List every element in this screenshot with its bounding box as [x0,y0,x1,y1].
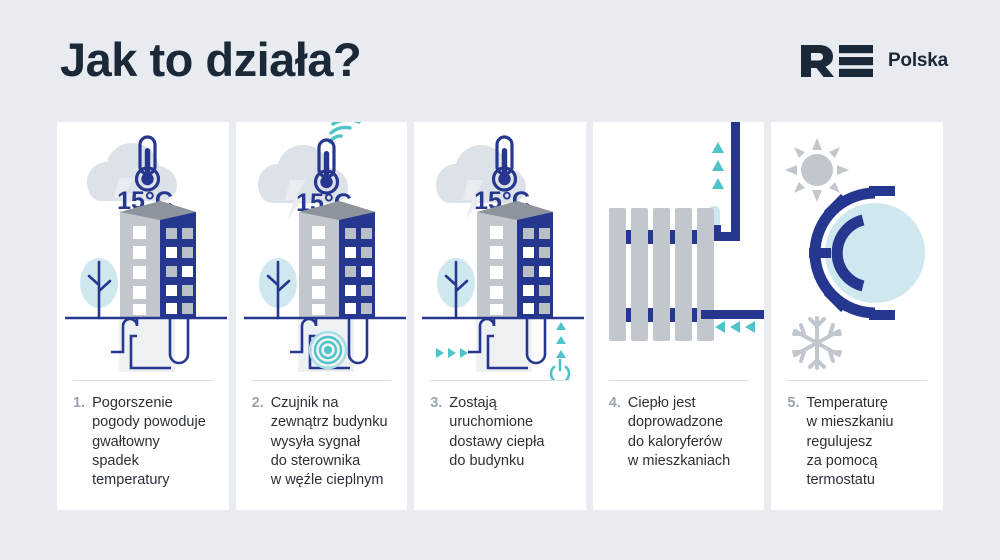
page-header: Jak to działa? Polska [0,0,1000,122]
step-card-4: 4. Ciepło jest doprowadzone do kaloryfer… [593,122,765,510]
step-text: Temperaturę w mieszkaniu regulujesz za p… [806,394,893,490]
brand-logo: Polska [799,44,948,78]
flow-arrows-up-icon [712,142,724,189]
basement-block [476,318,532,372]
step-number: 2. [252,394,264,413]
wifi-signal-icon [330,122,359,142]
sun-icon [785,138,849,202]
step-number: 5. [787,394,799,413]
tree-icon [259,258,297,318]
snowflake-icon [794,318,840,368]
flow-arrows-up-icon [556,322,566,358]
return-pipe [701,310,765,319]
step-5-caption: 5. Temperaturę w mieszkaniu regulujesz z… [787,380,927,490]
step-card-5: 5. Temperaturę w mieszkaniu regulujesz z… [771,122,943,510]
step-text: Ciepło jest doprowadzone do kaloryferów … [628,394,730,471]
tree-icon [80,258,118,318]
step-number: 3. [430,394,442,413]
step-text: Pogorszenie pogody powoduje gwałtowny sp… [92,394,206,490]
building-icon [477,201,553,318]
step-1-caption: 1. Pogorszenie pogody powoduje gwałtowny… [73,380,213,490]
step-2-illustration: 15°C [236,122,408,380]
flow-arrows-right-icon [436,348,468,358]
step-2-caption: 2. Czujnik na zewnątrz budynku wysyła sy… [252,380,392,490]
step-card-1: 15°C [57,122,229,510]
steps-container: 15°C [57,122,943,510]
power-icon [551,360,569,380]
thermostat-dial-icon [809,186,925,320]
radiator-icon [609,208,714,341]
step-text: Czujnik na zewnątrz budynku wysyła sygna… [271,394,388,490]
step-text: Zostają uruchomione dostawy ciepła do bu… [449,394,544,471]
step-number: 4. [609,394,621,413]
page-title: Jak to działa? [60,34,361,86]
building-icon [120,201,196,318]
step-4-illustration [593,122,765,380]
step-card-3: 15°C [414,122,586,510]
step-4-caption: 4. Ciepło jest doprowadzone do kaloryfer… [609,380,749,471]
signal-ripple-icon [310,332,346,368]
building-icon [299,201,375,318]
step-1-illustration: 15°C [57,122,229,380]
step-3-caption: 3. Zostają uruchomione dostawy ciepła do… [430,380,570,471]
step-card-2: 15°C [236,122,408,510]
re-logo-icon [799,44,879,78]
infographic-page: Jak to działa? Polska [0,0,1000,560]
basement-block [119,318,175,372]
tree-icon [437,258,475,318]
logo-wordmark: Polska [888,50,948,72]
step-5-illustration [771,122,943,380]
flow-arrows-left-icon [715,321,755,333]
step-number: 1. [73,394,85,413]
step-3-illustration: 15°C [414,122,586,380]
